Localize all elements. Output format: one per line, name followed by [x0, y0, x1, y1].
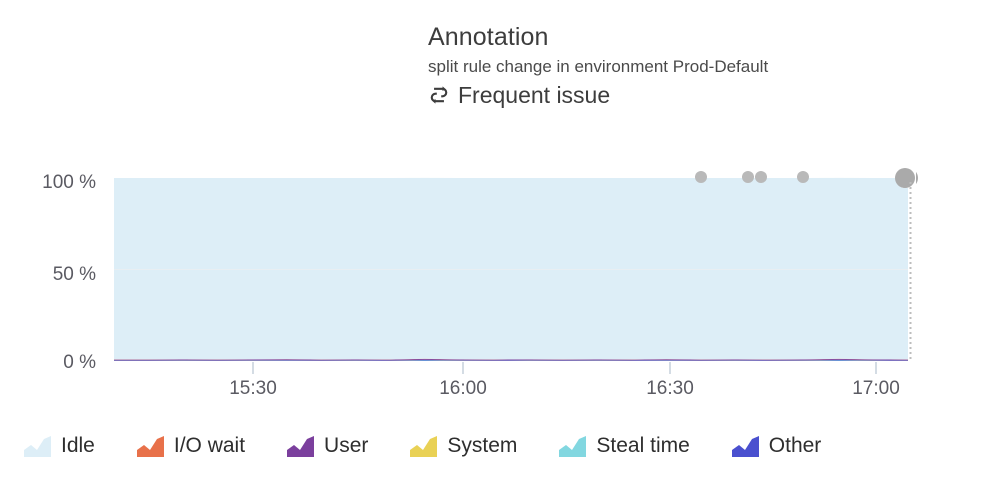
legend-item-io-wait[interactable]: I/O wait [137, 434, 245, 458]
annotation-marker-selected-visible[interactable] [895, 168, 915, 188]
legend-item-user[interactable]: User [287, 434, 368, 458]
plot-area [0, 0, 1008, 492]
legend-label-other: Other [769, 434, 822, 458]
legend-item-idle[interactable]: Idle [24, 434, 95, 458]
legend-label-steal-time: Steal time [596, 434, 689, 458]
area-series-idle [114, 178, 908, 360]
legend-swatch-system [410, 436, 437, 457]
annotation-marker[interactable] [755, 171, 767, 183]
x-tick-marks [253, 362, 876, 374]
annotation-marker[interactable] [797, 171, 809, 183]
legend-swatch-steal-time [559, 436, 586, 457]
legend-label-user: User [324, 434, 368, 458]
legend-swatch-io-wait [137, 436, 164, 457]
legend-swatch-idle [24, 436, 51, 457]
legend-swatch-user [287, 436, 314, 457]
legend-item-steal-time[interactable]: Steal time [559, 434, 689, 458]
legend-label-idle: Idle [61, 434, 95, 458]
legend-label-system: System [447, 434, 517, 458]
legend-label-io-wait: I/O wait [174, 434, 245, 458]
legend-item-other[interactable]: Other [732, 434, 822, 458]
legend-item-system[interactable]: System [410, 434, 517, 458]
annotation-marker[interactable] [695, 171, 707, 183]
legend-swatch-other [732, 436, 759, 457]
chart-legend: Idle I/O wait User System Steal time Oth… [24, 424, 1004, 468]
annotation-marker[interactable] [742, 171, 754, 183]
cpu-usage-area-chart[interactable]: 100 % 50 % 0 % 15:30 16:00 16:30 17:00 [0, 0, 1008, 492]
